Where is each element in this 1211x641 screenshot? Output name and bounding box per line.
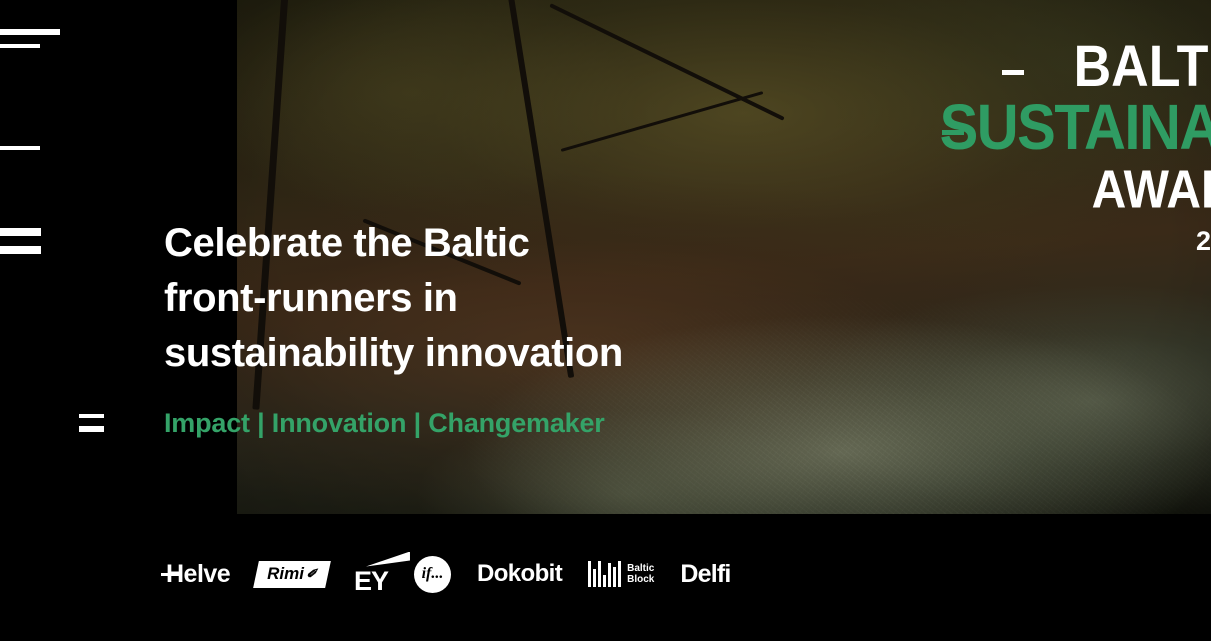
baltic-block-wordmark: BalticBlock [627, 563, 654, 586]
rimi-swoosh-icon: ✐ [306, 566, 317, 582]
headline-line-1: Celebrate the Baltic [164, 221, 529, 265]
page-title: Celebrate the Balticfront-runners insust… [164, 216, 724, 382]
ey-wordmark: EY [354, 566, 388, 597]
rimi-wordmark: Rimi [267, 564, 304, 584]
logo-line-sustainability: SUSTAINABILITY [927, 96, 1211, 160]
partner-logo-rimi[interactable]: Rimi✐ [253, 561, 330, 588]
ey-beam-icon [366, 552, 410, 567]
decor-dash-6 [79, 414, 104, 418]
decor-dash-7 [79, 426, 104, 432]
logo-line-baltic: BALTIC [927, 38, 1211, 96]
footer-bar: Helve Rimi✐ EY if... Dokobit [0, 514, 1211, 641]
hero-headline-block: Celebrate the Balticfront-runners insust… [164, 216, 724, 439]
decor-dash-2 [0, 44, 40, 48]
baltic-block-line-2: Block [627, 574, 654, 585]
partner-logo-dokobit[interactable]: Dokobit [477, 560, 562, 588]
partner-logo-delfi[interactable]: Delfi [680, 560, 730, 589]
landing-page: BALTIC SUSTAINABILITY AWARDS 2022 Celebr… [0, 0, 1211, 641]
partner-logo-baltic-block[interactable]: BalticBlock [588, 561, 654, 587]
partner-logo-strip: Helve Rimi✐ EY if... Dokobit [164, 544, 731, 604]
delfi-wordmark: Delfi [680, 560, 730, 589]
decor-dash-4 [0, 228, 41, 236]
headline-line-3: sustainability innovation [164, 331, 623, 375]
logo-strike-mark-1 [1002, 70, 1024, 75]
headline-line-2: front-runners in [164, 276, 458, 320]
baltic-block-line-1: Baltic [627, 563, 654, 574]
hero-tagline: Impact | Innovation | Changemaker [164, 408, 724, 439]
logo-strike-mark-2 [942, 130, 964, 135]
partner-logo-ey[interactable]: EY [354, 552, 388, 597]
logo-year: 2022 [927, 228, 1211, 255]
if-wordmark: if... [422, 565, 444, 583]
dokobit-wordmark: Dokobit [477, 560, 562, 588]
partner-logo-helve[interactable]: Helve [164, 560, 230, 589]
partner-logo-if[interactable]: if... [414, 556, 451, 593]
decor-dash-1 [0, 29, 60, 35]
baltic-block-barcode-icon [588, 561, 621, 587]
logo-line-awards: AWARDS [927, 164, 1211, 218]
decor-dash-5 [0, 246, 41, 254]
awards-logo-lockup: BALTIC SUSTAINABILITY AWARDS 2022 [927, 38, 1211, 255]
decor-dash-3 [0, 146, 40, 150]
helve-crossbar-icon [161, 573, 182, 576]
